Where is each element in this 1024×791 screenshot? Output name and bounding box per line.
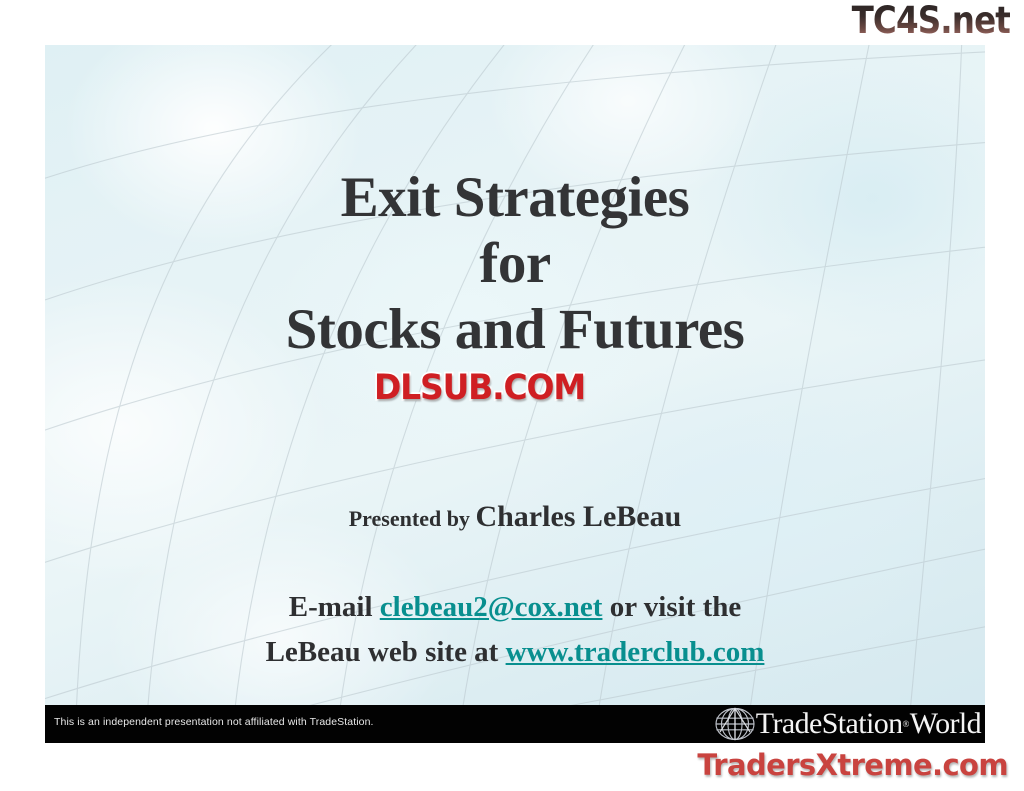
- title-line-3: Stocks and Futures: [45, 297, 985, 363]
- title-line-2: for: [45, 231, 985, 297]
- disclaimer-text: This is an independent presentation not …: [54, 716, 374, 728]
- tradersxtreme-watermark: TradersXtreme.com: [697, 748, 1008, 782]
- tc4s-watermark: TC4S.net: [852, 1, 1010, 41]
- presenter-name: Charles LeBeau: [475, 500, 681, 533]
- email-label: E-mail: [289, 591, 380, 623]
- contact-info: E-mail clebeau2@cox.net or visit the LeB…: [45, 585, 985, 675]
- globe-icon: [714, 706, 760, 742]
- email-suffix-label: or visit the: [602, 591, 741, 623]
- tradestationworld-wordmark: TradeStation®World: [756, 707, 981, 741]
- wordmark-world: World: [910, 707, 981, 740]
- registered-trademark-symbol: ®: [903, 719, 909, 729]
- title-line-1: Exit Strategies: [45, 165, 985, 231]
- dlsub-watermark: DLSUB.COM: [374, 369, 585, 407]
- wordmark-tradestation: TradeStation: [756, 707, 903, 740]
- website-link[interactable]: www.traderclub.com: [506, 636, 765, 668]
- footer-bar: This is an independent presentation not …: [45, 705, 985, 743]
- contact-website-line: LeBeau web site at www.traderclub.com: [45, 630, 985, 675]
- presenter-credit: Presented by Charles LeBeau: [45, 500, 985, 534]
- tradestationworld-logo: TradeStation®World: [714, 705, 981, 743]
- website-label: LeBeau web site at: [266, 636, 506, 668]
- contact-email-line: E-mail clebeau2@cox.net or visit the: [45, 585, 985, 630]
- presented-by-label: Presented by: [349, 506, 476, 531]
- page-title: Exit Strategies for Stocks and Futures: [45, 165, 985, 363]
- email-link[interactable]: clebeau2@cox.net: [380, 591, 603, 623]
